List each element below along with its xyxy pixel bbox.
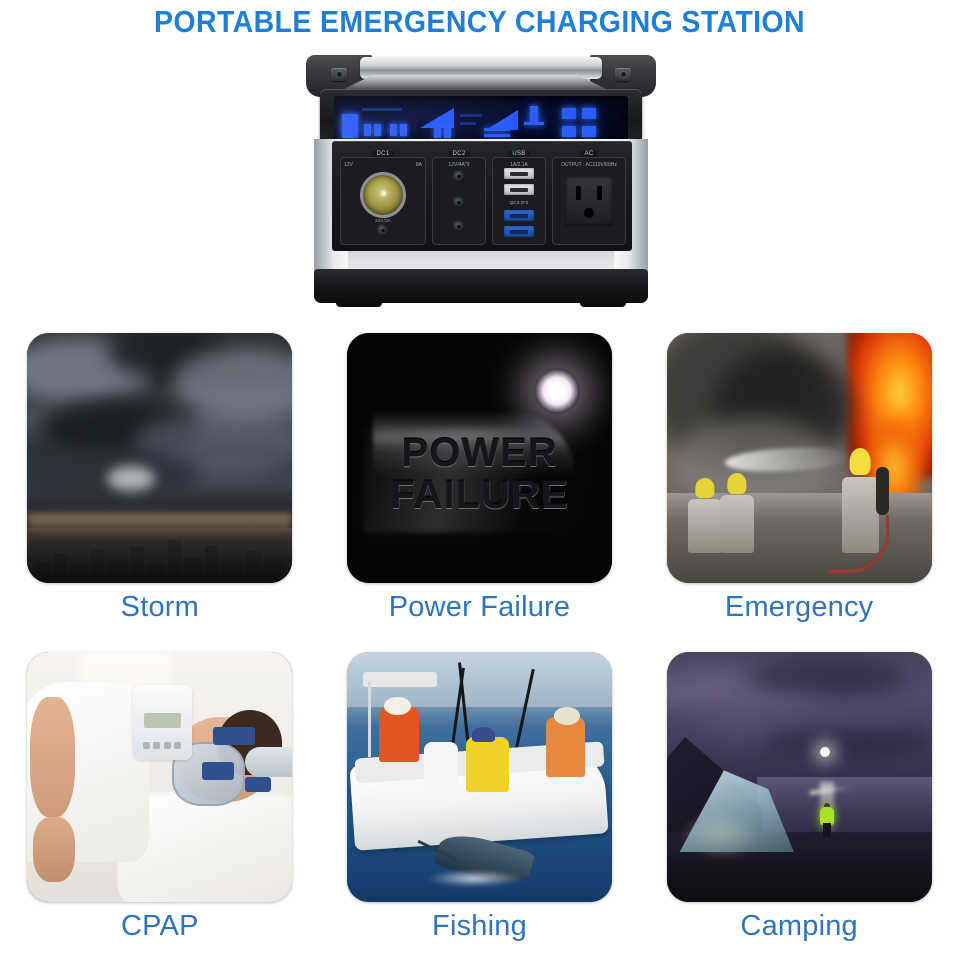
dc2-barrel-jack[interactable] xyxy=(453,170,466,183)
dc1-socket-note: 24V/3A xyxy=(375,218,391,223)
usb-qc-label: QC3.0*2 xyxy=(510,200,529,205)
overlay-line-1: POWER xyxy=(401,431,557,475)
tile-label-emergency: Emergency xyxy=(725,592,873,624)
device-foot xyxy=(336,299,382,307)
thumbnail-camping[interactable] xyxy=(667,652,932,902)
lcd-digit-segment xyxy=(562,108,576,119)
lcd-digit-segment xyxy=(582,126,596,137)
dc2-spec: 12V/4A*3 xyxy=(448,162,469,168)
tile-label-storm: Storm xyxy=(121,592,199,624)
use-case-tile-camping[interactable]: Camping xyxy=(639,652,959,971)
port-group-usb: USB 1A/2.1A QC3.0*2 xyxy=(492,157,546,245)
cpap-machine xyxy=(133,685,191,760)
use-case-tile-fishing[interactable]: Fishing xyxy=(320,652,640,971)
product-image: DC1 12V 8A 24V/3A DC2 12V/4A*3 USB 1A/2.… xyxy=(300,55,662,320)
port-group-dc2: DC2 12V/4A*3 xyxy=(432,157,486,245)
tile-label-power-failure: Power Failure xyxy=(389,592,571,624)
use-case-tile-power-failure[interactable]: POWER FAILURE Power Failure xyxy=(320,333,640,652)
camping-photo xyxy=(667,652,932,902)
page-title: PORTABLE EMERGENCY CHARGING STATION xyxy=(38,0,920,44)
ac-spec: OUTPUT : AC110V/60Hz xyxy=(561,162,617,168)
tile-label-cpap: CPAP xyxy=(121,911,199,943)
usb-label: USB xyxy=(508,151,529,157)
usb-port-quickcharge[interactable] xyxy=(504,226,534,237)
dc1-barrel-jack[interactable] xyxy=(377,224,390,237)
dc1-voltage-spec: 12V xyxy=(344,162,353,168)
dc2-barrel-jack[interactable] xyxy=(453,220,466,233)
ac-outlet[interactable] xyxy=(565,176,613,226)
tile-label-camping: Camping xyxy=(740,911,857,943)
use-case-tile-storm[interactable]: Storm xyxy=(0,333,320,652)
ac-slot-neutral xyxy=(576,186,581,200)
thumbnail-cpap[interactable] xyxy=(27,652,292,902)
use-case-grid: Storm POWER FAILURE Power Failure xyxy=(0,333,959,971)
device-button-right[interactable] xyxy=(615,68,631,81)
device-base xyxy=(314,269,648,303)
thumbnail-emergency[interactable] xyxy=(667,333,932,583)
thumbnail-fishing[interactable] xyxy=(347,652,612,902)
port-group-ac: AC OUTPUT : AC110V/60Hz xyxy=(552,157,626,245)
lcd-bar-segment xyxy=(524,122,544,125)
cpap-photo xyxy=(27,652,292,902)
firefighter xyxy=(720,473,754,553)
power-failure-photo: POWER FAILURE xyxy=(347,333,612,583)
usb-port-quickcharge[interactable] xyxy=(504,210,534,221)
cigarette-lighter-socket[interactable] xyxy=(360,172,406,218)
storm-photo xyxy=(27,333,292,583)
port-panel: DC1 12V 8A 24V/3A DC2 12V/4A*3 USB 1A/2.… xyxy=(332,141,632,251)
lcd-digit-segment xyxy=(562,126,576,137)
light-glow-icon xyxy=(534,368,580,414)
lcd-plug-icon xyxy=(530,106,538,122)
dc2-label: DC2 xyxy=(449,151,470,157)
cpap-tube xyxy=(245,747,293,777)
port-group-dc1: DC1 12V 8A 24V/3A xyxy=(340,157,426,245)
usb-port-standard[interactable] xyxy=(504,184,534,195)
device-foot xyxy=(580,299,626,307)
overlay-line-2: FAILURE xyxy=(390,473,568,517)
fishing-photo xyxy=(347,652,612,902)
device-button-left[interactable] xyxy=(331,68,347,81)
dc1-label: DC1 xyxy=(373,151,394,157)
tile-label-fishing: Fishing xyxy=(432,911,527,943)
thumbnail-storm[interactable] xyxy=(27,333,292,583)
power-failure-overlay-text: POWER FAILURE xyxy=(347,433,612,516)
lcd-digit-segment xyxy=(582,108,596,119)
ac-label: AC xyxy=(581,151,598,157)
emergency-photo xyxy=(667,333,932,583)
camper-person xyxy=(820,803,834,837)
dc1-current-spec: 8A xyxy=(416,162,422,168)
firefighter xyxy=(688,478,722,553)
ac-ground-pin xyxy=(584,208,594,218)
use-case-tile-cpap[interactable]: CPAP xyxy=(0,652,320,971)
use-case-tile-emergency[interactable]: Emergency xyxy=(639,333,959,652)
thumbnail-power-failure[interactable]: POWER FAILURE xyxy=(347,333,612,583)
usb-port-standard[interactable] xyxy=(504,168,534,179)
dc2-barrel-jack[interactable] xyxy=(453,196,466,209)
ac-slot-line xyxy=(597,186,602,200)
